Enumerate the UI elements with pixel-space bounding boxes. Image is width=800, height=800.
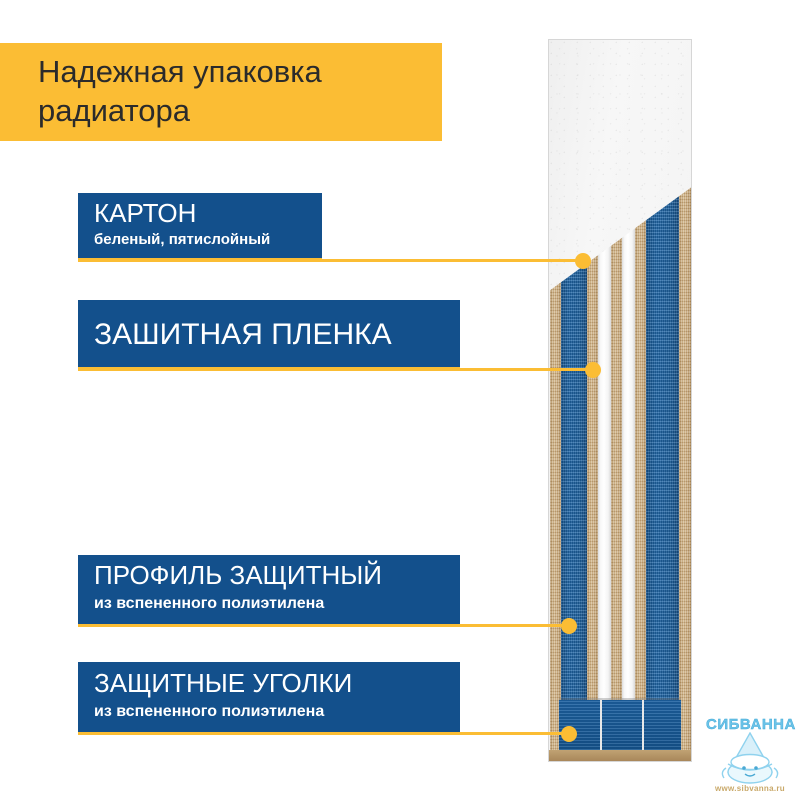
callout-profil: ПРОФИЛЬ ЗАЩИТНЫЙ из вспененного полиэтил… — [78, 555, 460, 627]
package-illustration — [548, 39, 692, 762]
package-bottom-kraft — [549, 750, 691, 761]
page-title: Надежная упаковка радиатора — [38, 52, 433, 130]
callout-karton-subtitle: беленый, пятислойный — [94, 231, 270, 249]
callout-karton-title: КАРТОН — [94, 198, 196, 228]
leader-dot-plenka — [585, 362, 601, 378]
infographic-canvas: Надежная упаковка радиатора КАРТОН белен… — [0, 0, 800, 800]
callout-plenka: ЗАШИТНАЯ ПЛЕНКА — [78, 300, 460, 370]
leader-dot-karton — [575, 253, 591, 269]
corner-protector-divider — [600, 700, 602, 750]
corner-protectors-band — [559, 700, 681, 750]
corner-protector-divider — [642, 700, 644, 750]
callout-plenka-title: ЗАШИТНАЯ ПЛЕНКА — [94, 317, 392, 353]
callout-profil-subtitle: из вспененного полиэтилена — [94, 594, 324, 613]
callout-ugolki-subtitle: из вспененного полиэтилена — [94, 702, 324, 721]
brand-logo: СИБВАННА www.sibvanna.ru — [706, 716, 794, 794]
brand-wordmark: СИБВАННА — [706, 716, 794, 733]
callout-ugolki-title: ЗАЩИТНЫЕ УГОЛКИ — [94, 668, 352, 699]
callout-karton: КАРТОН беленый, пятислойный — [78, 193, 322, 261]
callout-profil-title: ПРОФИЛЬ ЗАЩИТНЫЙ — [94, 560, 382, 591]
leader-dot-profil — [561, 618, 577, 634]
water-drop-bathtub-icon — [714, 732, 786, 786]
brand-url: www.sibvanna.ru — [706, 784, 794, 793]
callout-ugolki: ЗАЩИТНЫЕ УГОЛКИ из вспененного полиэтиле… — [78, 662, 460, 735]
leader-dot-ugolki — [561, 726, 577, 742]
title-banner: Надежная упаковка радиатора — [0, 43, 442, 141]
